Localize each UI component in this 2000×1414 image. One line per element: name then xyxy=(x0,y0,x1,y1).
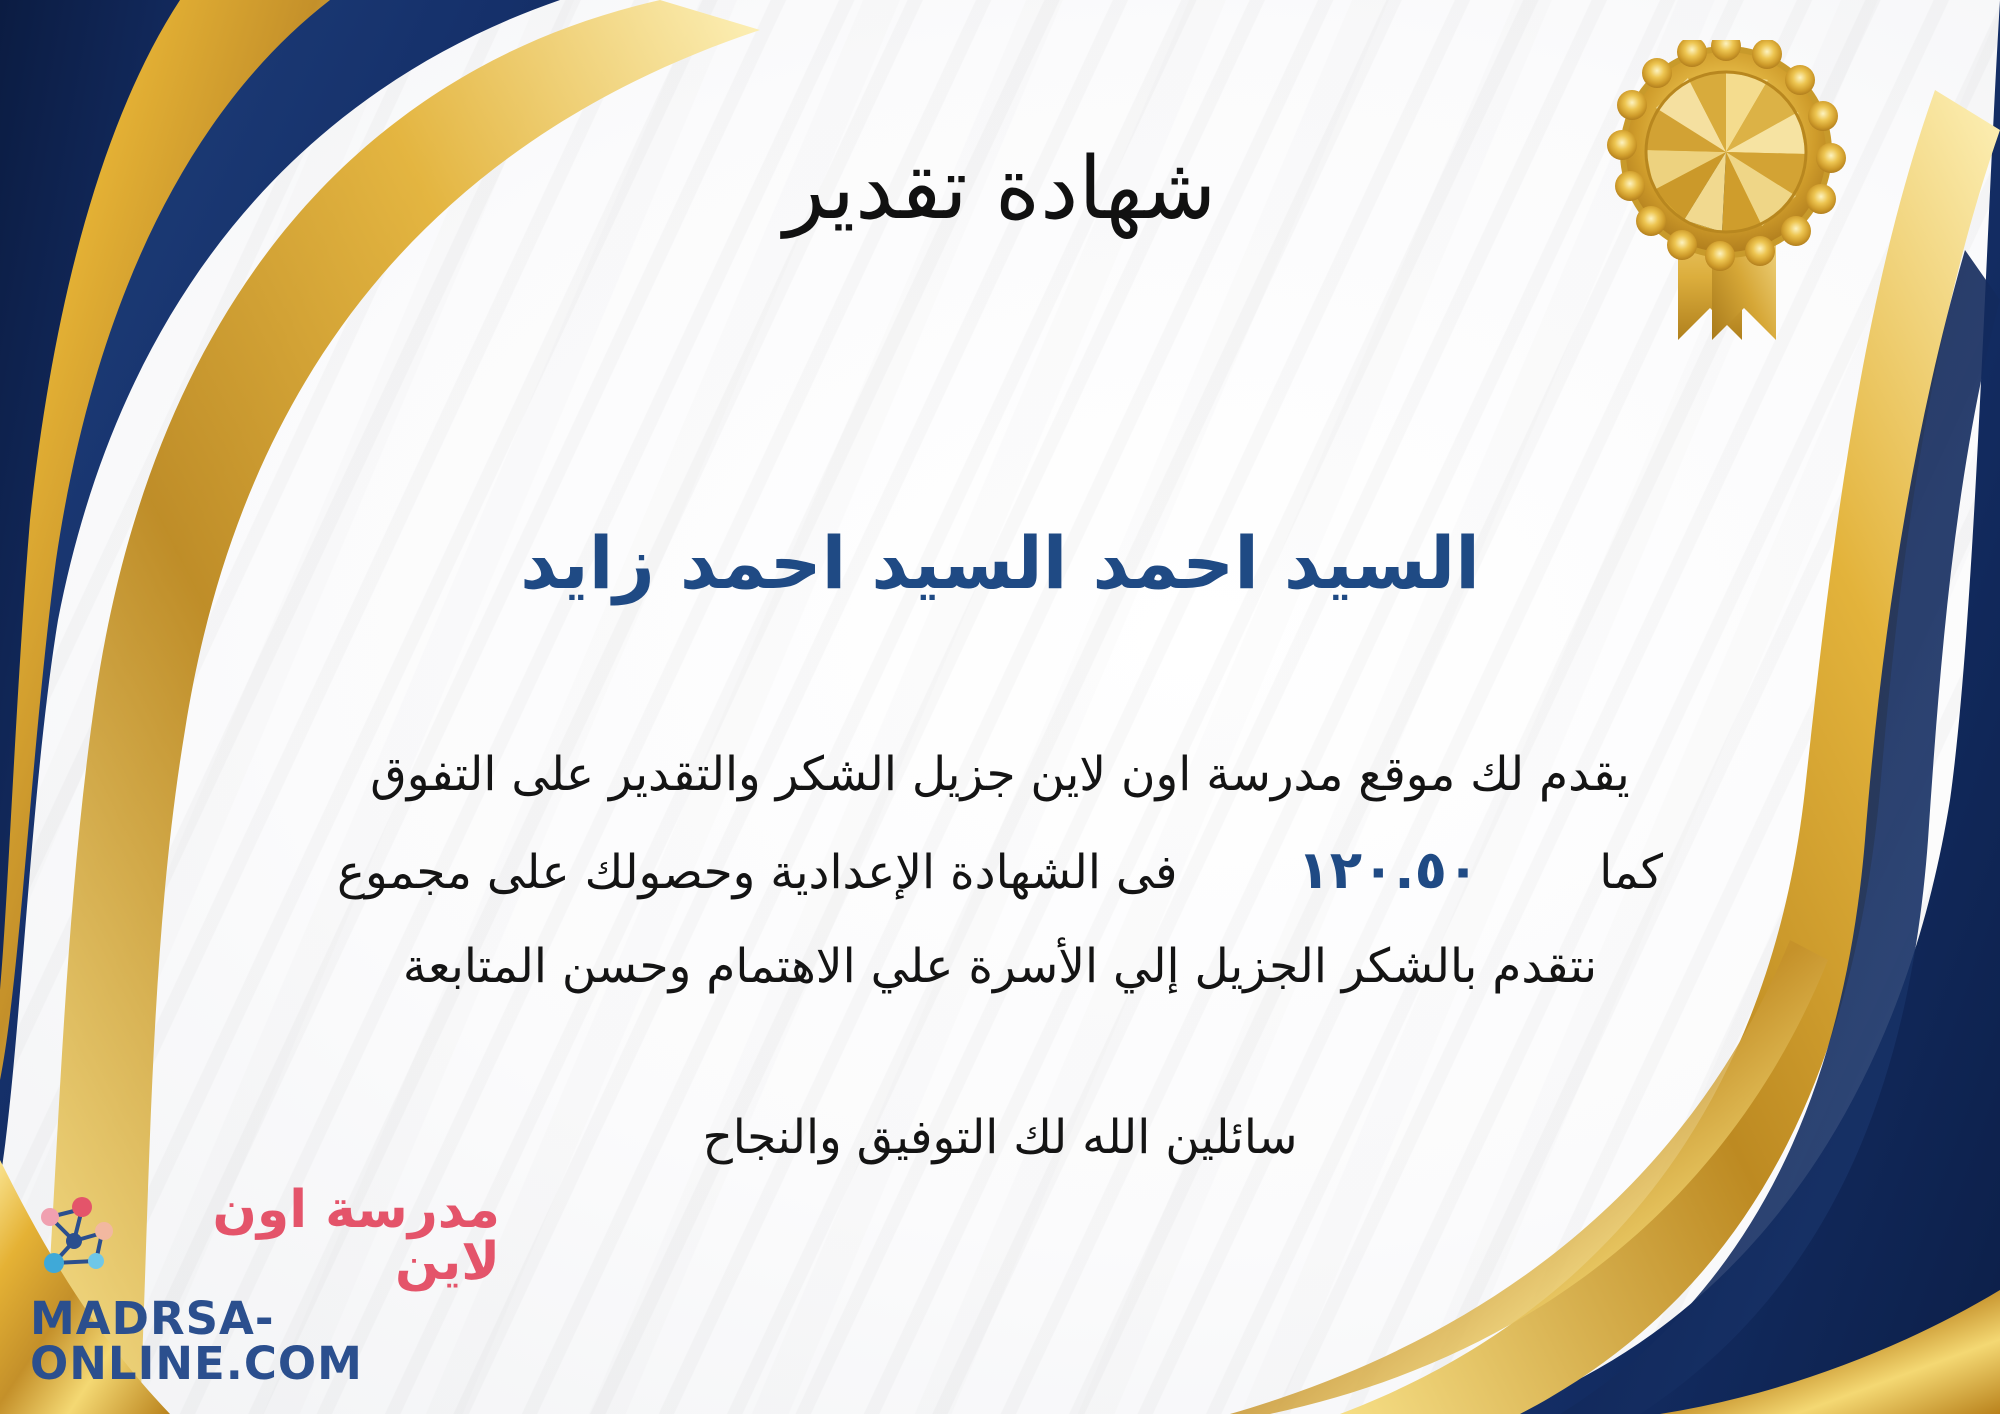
brand-logo-row: مدرسة اون لاين xyxy=(30,1184,500,1288)
network-nodes-icon xyxy=(30,1195,116,1277)
closing-line: سائلين الله لك التوفيق والنجاح xyxy=(0,1110,2000,1165)
grade-value: ١٢٠.٥٠ xyxy=(1297,840,1479,901)
certificate-canvas: شهادة تقدير السيد احمد السيد احمد زايد ي… xyxy=(0,0,2000,1414)
body-line-2-start: كما xyxy=(1599,845,1663,900)
body-line-2-end: فى الشهادة الإعدادية وحصولك على مجموع xyxy=(337,845,1178,900)
body-line-1: يقدم لك موقع مدرسة اون لاين جزيل الشكر و… xyxy=(60,730,1940,820)
brand-logo[interactable]: مدرسة اون لاين MADRSA-ONLINE.COM xyxy=(30,1246,500,1386)
body-line-3: نتقدم بالشكر الجزيل إلي الأسرة علي الاهت… xyxy=(60,922,1940,1012)
body-line-2: كما ١٢٠.٥٠ فى الشهادة الإعدادية وحصولك ع… xyxy=(60,820,1940,922)
brand-url[interactable]: MADRSA-ONLINE.COM xyxy=(30,1296,500,1386)
certificate-body: يقدم لك موقع مدرسة اون لاين جزيل الشكر و… xyxy=(60,730,1940,1012)
page-title: شهادة تقدير xyxy=(0,140,2000,239)
recipient-name: السيد احمد السيد احمد زايد xyxy=(0,520,2000,606)
brand-name-arabic: مدرسة اون لاين xyxy=(130,1184,500,1288)
